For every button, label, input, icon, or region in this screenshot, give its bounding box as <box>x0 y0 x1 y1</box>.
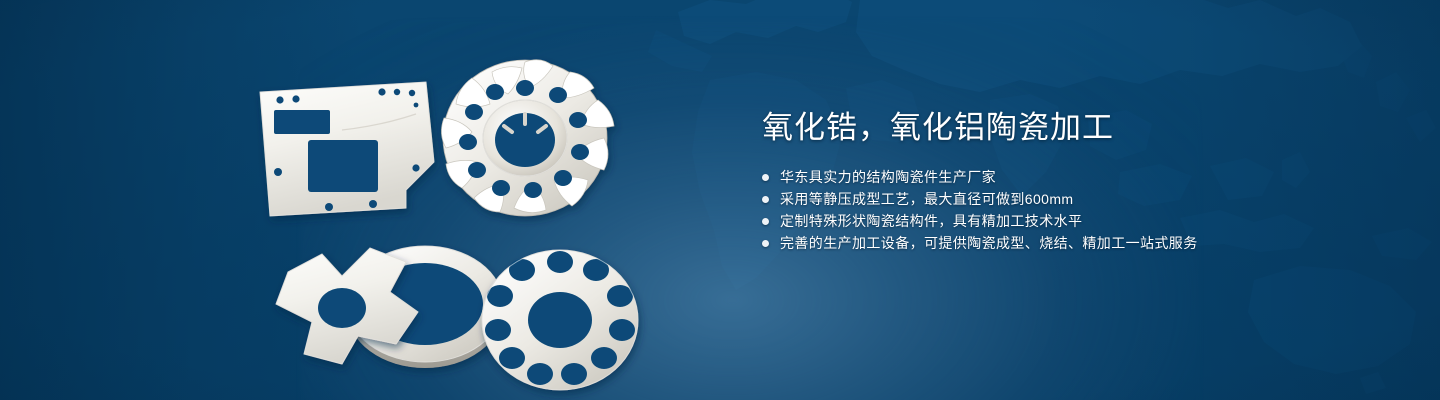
list-item: 定制特殊形状陶瓷结构件，具有精加工技术水平 <box>762 210 1382 232</box>
feature-text: 完善的生产加工设备，可提供陶瓷成型、烧结、精加工一站式服务 <box>780 232 1198 254</box>
promo-banner: 氧化锆，氧化铝陶瓷加工 华东具实力的结构陶瓷件生产厂家 采用等静压成型工艺，最大… <box>0 0 1440 400</box>
ceramic-mounting-plate <box>260 82 434 216</box>
bullet-dot-icon <box>762 240 769 247</box>
bullet-dot-icon <box>762 218 769 225</box>
list-item: 采用等静压成型工艺，最大直径可做到600mm <box>762 188 1382 210</box>
feature-text: 采用等静压成型工艺，最大直径可做到600mm <box>780 188 1073 210</box>
ceramic-impeller-wheel <box>441 60 614 216</box>
list-item: 华东具实力的结构陶瓷件生产厂家 <box>762 166 1382 188</box>
page-title: 氧化锆，氧化铝陶瓷加工 <box>762 108 1382 148</box>
feature-text: 华东具实力的结构陶瓷件生产厂家 <box>780 166 996 188</box>
banner-copy: 氧化锆，氧化铝陶瓷加工 华东具实力的结构陶瓷件生产厂家 采用等静压成型工艺，最大… <box>762 108 1382 254</box>
bullet-dot-icon <box>762 174 769 181</box>
ceramic-perforated-disc <box>482 250 638 390</box>
ceramic-products-image <box>230 30 730 380</box>
list-item: 完善的生产加工设备，可提供陶瓷成型、烧结、精加工一站式服务 <box>762 232 1382 254</box>
feature-text: 定制特殊形状陶瓷结构件，具有精加工技术水平 <box>780 210 1082 232</box>
feature-list: 华东具实力的结构陶瓷件生产厂家 采用等静压成型工艺，最大直径可做到600mm 定… <box>762 166 1382 254</box>
bullet-dot-icon <box>762 196 769 203</box>
